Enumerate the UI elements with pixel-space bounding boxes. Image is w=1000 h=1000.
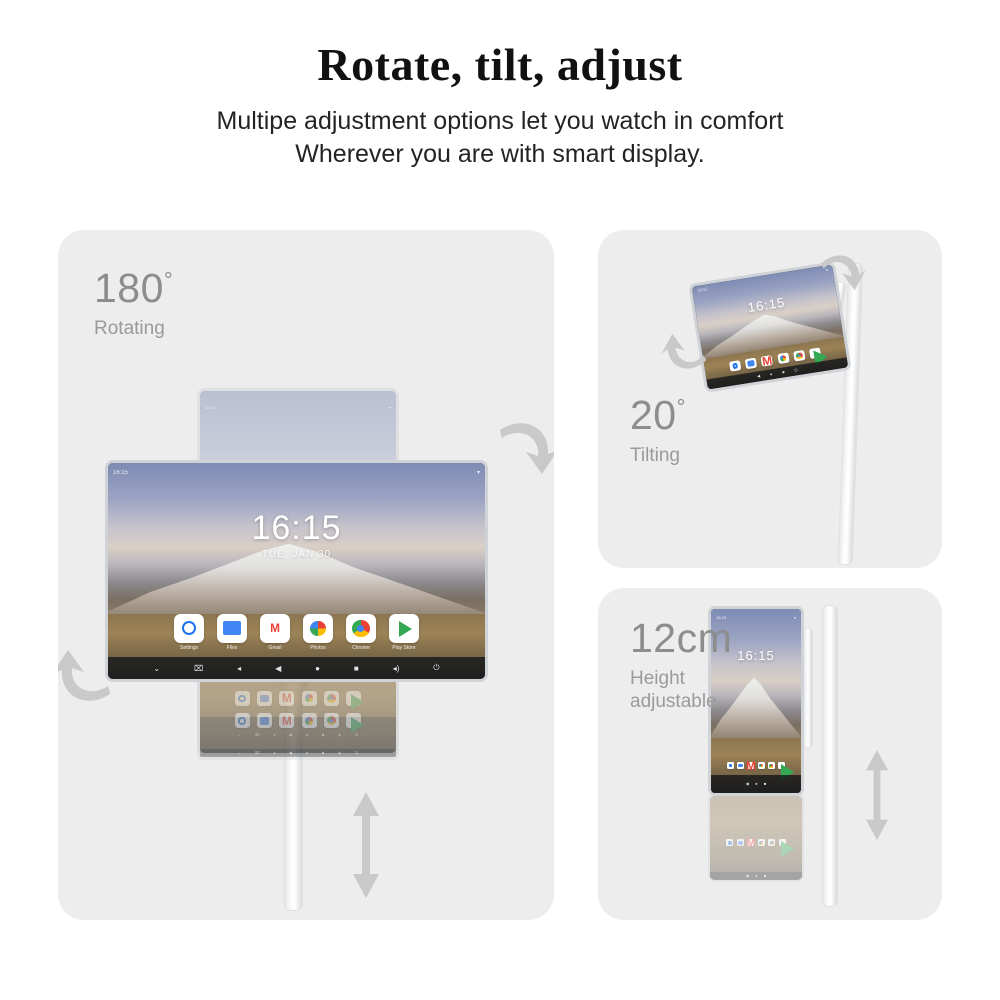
ghost-bottom-navbar: ⌄ ⌧ ◂ ◀ ● ■ ◂) ⏻ <box>200 749 396 757</box>
tilt-arrow-bottom-icon <box>660 326 714 380</box>
tablet-main-landscape: 16:15 ▾ 16:15 TUE, JAN 30 Settings <box>105 460 488 682</box>
lowered-app-files[interactable] <box>737 839 744 846</box>
tablet-portrait-lowered-ghost: ◀ ● ■ <box>708 794 804 882</box>
panel-height-value: 12cm <box>630 618 732 659</box>
ghost-bottom-app-gmail[interactable] <box>279 713 294 728</box>
ghost-bottom-dock <box>200 713 396 728</box>
settings-icon <box>174 614 203 643</box>
photos-icon <box>758 762 765 769</box>
panel-rotating: 180° Rotating 16:15 ▾ <box>58 230 554 920</box>
collapse-icon[interactable]: ⌄ <box>238 750 241 755</box>
clock-date: TUE, JAN 30 <box>108 549 485 560</box>
tilted-app-gmail[interactable] <box>761 355 774 368</box>
ghost-status-time: 16:15 <box>205 405 215 410</box>
recents-icon[interactable]: ■ <box>322 750 324 755</box>
files-icon <box>745 357 758 370</box>
settings-icon <box>729 360 742 373</box>
app-label-gmail: Gmail <box>260 645 289 651</box>
tilted-app-photos[interactable] <box>777 352 790 365</box>
clock-time: 16:15 <box>108 511 485 545</box>
back-icon[interactable]: ◀ <box>757 373 761 378</box>
main-status-icons: ▾ <box>477 469 480 476</box>
settings-icon <box>235 713 250 728</box>
recents-icon[interactable]: ■ <box>764 781 766 786</box>
feature-panels: 180° Rotating 16:15 ▾ <box>0 222 1000 922</box>
ghost-bottom-app-photos[interactable] <box>302 713 317 728</box>
power-icon[interactable]: ⏻ <box>794 368 798 373</box>
app-chrome[interactable]: Chrome <box>346 614 375 651</box>
back-icon[interactable]: ◀ <box>746 873 749 878</box>
tilt-arrow-top-icon <box>813 244 867 298</box>
back-icon[interactable]: ◀ <box>275 664 281 673</box>
stand-pole-tilting <box>839 264 862 564</box>
play-store-icon <box>389 614 418 643</box>
volume-up-icon[interactable]: ◂) <box>338 750 341 755</box>
app-label-photos: Photos <box>303 645 332 651</box>
panel-rotating-value: 180° <box>94 268 173 309</box>
main-statusbar: 16:15 ▾ <box>108 463 485 482</box>
raised-app-play[interactable] <box>778 762 785 769</box>
page-header: Rotate, tilt, adjust Multipe adjustment … <box>0 0 1000 171</box>
volume-up-icon[interactable]: ◂) <box>393 664 400 673</box>
recents-icon[interactable]: ■ <box>354 664 359 673</box>
app-gmail[interactable]: Gmail <box>260 614 289 651</box>
files-icon <box>257 713 272 728</box>
gmail-icon <box>761 355 774 368</box>
panel-height: 12cm Height adjustable 16:15 ▾ 16:15 <box>598 588 942 920</box>
app-play-store[interactable]: Play Store <box>389 614 418 651</box>
photos-icon <box>777 352 790 365</box>
chrome-icon <box>793 350 806 363</box>
app-label-settings: Settings <box>174 645 203 651</box>
ghost-bottom-app-chrome[interactable] <box>324 713 339 728</box>
raised-app-photos[interactable] <box>758 762 765 769</box>
gmail-icon <box>747 762 754 769</box>
files-icon <box>737 762 744 769</box>
home-icon[interactable]: ● <box>306 750 308 755</box>
raised-app-files[interactable] <box>737 762 744 769</box>
play-store-icon <box>809 347 822 360</box>
ghost-statusbar: 16:15 ▾ <box>200 391 396 424</box>
app-dock: Settings Files Gmail Photos <box>108 614 485 651</box>
app-files[interactable]: Files <box>217 614 246 651</box>
tilted-status-time: 16:15 <box>697 287 708 294</box>
height-double-arrow-icon <box>860 740 894 850</box>
lowered-ghost-dock <box>710 839 802 846</box>
tilted-app-files[interactable] <box>745 357 758 370</box>
ghost-bottom-app-settings[interactable] <box>235 713 250 728</box>
collapse-icon[interactable]: ⌄ <box>153 664 160 673</box>
app-label-play-store: Play Store <box>389 645 418 651</box>
home-icon[interactable]: ● <box>755 781 757 786</box>
photos-icon <box>303 614 332 643</box>
gmail-icon <box>747 839 754 846</box>
back-icon[interactable]: ◀ <box>746 781 749 786</box>
panel-tilting-value: 20° <box>630 395 686 436</box>
lockscreen-clock: 16:15 TUE, JAN 30 <box>108 511 485 560</box>
panel-rotating-label: 180° Rotating <box>94 268 173 340</box>
chrome-icon <box>768 762 775 769</box>
raised-app-settings[interactable] <box>727 762 734 769</box>
lowered-app-photos[interactable] <box>758 839 765 846</box>
page-subtitle: Multipe adjustment options let you watch… <box>50 105 950 171</box>
recents-icon[interactable]: ■ <box>782 370 785 375</box>
screenshot-icon[interactable]: ⌧ <box>255 750 260 755</box>
rotate-arrow-right-icon <box>490 412 554 482</box>
raised-status-icons: ▾ <box>794 615 796 620</box>
main-status-time: 16:15 <box>113 470 128 476</box>
stand-inner-pole-height <box>804 628 812 748</box>
tablet-ghost-bottom: ⌄ ⌧ ◂ ◀ ● ■ ◂) ⏻ <box>197 670 399 760</box>
lowered-app-settings[interactable] <box>726 839 733 846</box>
height-double-arrow-rotating-icon <box>346 790 386 900</box>
tilted-app-play[interactable] <box>809 347 822 360</box>
app-label-files: Files <box>217 645 246 651</box>
settings-icon <box>726 839 733 846</box>
tilted-app-chrome[interactable] <box>793 350 806 363</box>
lowered-app-gmail[interactable] <box>747 839 754 846</box>
photos-icon <box>302 713 317 728</box>
gmail-icon <box>260 614 289 643</box>
app-settings[interactable]: Settings <box>174 614 203 651</box>
tablet-main-screen: 16:15 ▾ 16:15 TUE, JAN 30 Settings <box>108 463 485 679</box>
page-subtitle-line-1: Multipe adjustment options let you watch… <box>50 105 950 138</box>
play-store-icon <box>779 839 786 846</box>
files-icon <box>737 839 744 846</box>
page-title: Rotate, tilt, adjust <box>0 38 1000 91</box>
photos-icon <box>758 839 765 846</box>
recents-icon[interactable]: ■ <box>764 873 766 878</box>
panel-tilting-label: 20° Tilting <box>630 395 686 467</box>
system-navbar: ⌄ ⌧ ◂ ◀ ● ■ ◂) ⏻ <box>108 657 485 679</box>
chrome-icon <box>768 839 775 846</box>
panel-height-caption: Height adjustable <box>630 667 732 713</box>
chrome-icon <box>346 614 375 643</box>
power-icon[interactable]: ⏻ <box>355 750 358 755</box>
raised-app-gmail[interactable] <box>747 762 754 769</box>
lowered-app-play[interactable] <box>779 839 786 846</box>
panel-height-label: 12cm Height adjustable <box>630 618 732 713</box>
raised-app-chrome[interactable] <box>768 762 775 769</box>
settings-icon <box>727 762 734 769</box>
tilted-app-settings[interactable] <box>729 360 742 373</box>
stand-pole-height <box>823 606 837 906</box>
volume-down-icon[interactable]: ◂ <box>273 750 275 755</box>
ghost-bottom-app-play[interactable] <box>346 713 361 728</box>
app-photos[interactable]: Photos <box>303 614 332 651</box>
power-icon[interactable]: ⏻ <box>433 663 439 673</box>
screenshot-icon[interactable]: ⌧ <box>194 664 203 673</box>
files-icon <box>217 614 246 643</box>
lowered-app-chrome[interactable] <box>768 839 775 846</box>
home-icon[interactable]: ● <box>755 873 757 878</box>
page-subtitle-line-2: Wherever you are with smart display. <box>50 138 950 171</box>
app-label-chrome: Chrome <box>346 645 375 651</box>
panel-tilting-caption: Tilting <box>630 444 686 467</box>
play-store-icon <box>346 713 361 728</box>
home-icon[interactable]: ● <box>770 372 773 377</box>
raised-navbar: ◀ ● ■ <box>711 775 801 793</box>
lowered-ghost-navbar: ◀ ● ■ <box>710 872 802 880</box>
rotate-arrow-left-icon <box>58 642 120 712</box>
play-store-icon <box>778 762 785 769</box>
home-icon[interactable]: ● <box>315 664 320 673</box>
lowered-ghost-screen: ◀ ● ■ <box>710 796 802 880</box>
lowered-ghost-foreground <box>710 796 802 880</box>
raised-dock <box>711 762 801 769</box>
back-icon[interactable]: ◀ <box>289 750 292 755</box>
ghost-bottom-app-files[interactable] <box>257 713 272 728</box>
chrome-icon <box>324 713 339 728</box>
volume-down-icon[interactable]: ◂ <box>237 664 241 673</box>
ghost-status-icons: ▾ <box>389 405 391 410</box>
panel-rotating-caption: Rotating <box>94 317 173 340</box>
gmail-icon <box>279 713 294 728</box>
panel-tilting: 20° Tilting 16:15 ▾ 16:15 <box>598 230 942 568</box>
tablet-ghost-bottom-screen: ⌄ ⌧ ◂ ◀ ● ■ ◂) ⏻ <box>200 673 396 757</box>
